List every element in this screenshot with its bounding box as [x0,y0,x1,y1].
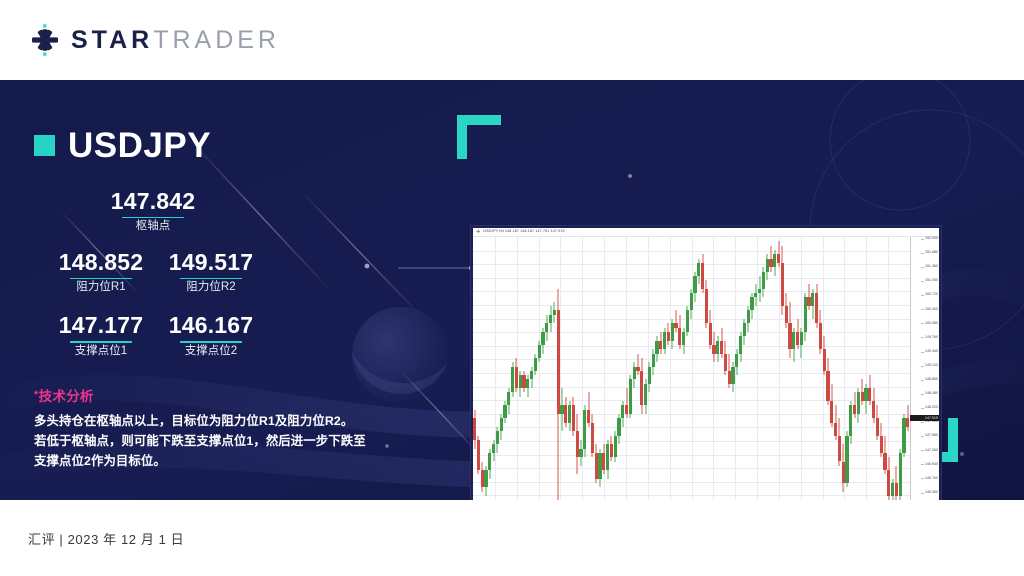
candlestick [762,237,765,500]
candlestick [678,237,681,500]
candlestick [560,237,563,500]
resistance-r1-label: 阻力位R1 [46,281,156,295]
brand-logo: STARTRADER [28,23,280,57]
support-s1-label: 支撑点位1 [46,345,156,359]
page-header: STARTRADER [0,0,1024,80]
candlestick [773,237,776,500]
price-axis-tick: 150.400 [925,308,938,311]
candlestick [648,237,651,500]
candlestick [750,237,753,500]
candlestick [583,237,586,500]
candlestick [712,237,715,500]
r1-underline [70,278,132,280]
price-axis-tick: 148.220 [925,406,938,409]
candlestick [800,237,803,500]
price-axis-tick: 150.720 [925,293,938,296]
candlestick [807,237,810,500]
candlestick [492,237,495,500]
candlestick [674,237,677,500]
price-axis-tick: 147.260 [925,449,938,452]
candlestick [735,237,738,500]
price-axis-tick: 149.120 [925,364,938,367]
candlestick [781,237,784,500]
candlestick [731,237,734,500]
resistance-r1-value: 148.852 [46,250,156,276]
candlestick [754,237,757,500]
candlestick [690,237,693,500]
candlestick [811,237,814,500]
analysis-heading: *技术分析 [34,388,414,406]
instrument-info-column: USDJPY 147.842 枢轴点 148.852 阻力位R1 149.517 [34,128,414,471]
candlestick [686,237,689,500]
candlestick [519,237,522,500]
candlestick [633,237,636,500]
price-axis-tick: 147.580 [925,434,938,437]
price-axis-tick: 148.480 [925,392,938,395]
analysis-body: 多头持仓在枢轴点以上，目标位为阻力位R1及阻力位R2。 若低于枢轴点，则可能下跌… [34,411,414,471]
main-dark-panel: USDJPY 147.842 枢轴点 148.852 阻力位R1 149.517 [0,80,1024,500]
candlestick [895,237,898,500]
candlestick [823,237,826,500]
price-axis-tick: 151.040 [925,279,938,282]
candlestick [891,237,894,500]
candlestick [693,237,696,500]
candlestick [861,237,864,500]
candlestick [503,237,506,500]
candlestick [845,237,848,500]
candlestick [496,237,499,500]
candlestick [549,237,552,500]
candlestick [652,237,655,500]
candlestick [617,237,620,500]
resistance-r2-value: 149.517 [156,250,266,276]
candlestick [899,237,902,500]
analysis-line-3: 支撑点位2作为目标位。 [34,451,414,471]
s2-underline [180,341,242,343]
candlestick [853,237,856,500]
candlestick [640,237,643,500]
candlestick [659,237,662,500]
candlestick [511,237,514,500]
technical-analysis-section: *技术分析 多头持仓在枢轴点以上，目标位为阻力位R1及阻力位R2。 若低于枢轴点… [34,388,414,471]
support-s2-label: 支撑点位2 [156,345,266,359]
candlestick [887,237,890,500]
candlestick [598,237,601,500]
candlestick [507,237,510,500]
candlestick [777,237,780,500]
candlestick [541,237,544,500]
candlestick [838,237,841,500]
candlestick [530,237,533,500]
candlestick [538,237,541,500]
candlestick [553,237,556,500]
candlestick [557,237,560,500]
candlestick [522,237,525,500]
analysis-line-2: 若低于枢轴点，则可能下跌至支撑点位1，然后进一步下跌至 [34,431,414,451]
candlestick [815,237,818,500]
presentation-slide: STARTRADER [0,0,1024,576]
current-price-badge: 147.919 [910,415,939,421]
chart-ohlc-title: USDJPY,H4 148.187 148.187 147.751 147.91… [483,230,564,234]
s1-underline [70,341,132,343]
candlestick [906,237,909,500]
star-asterisk-icon [28,23,62,57]
candlestick [830,237,833,500]
candlestick [500,237,503,500]
candlestick [701,237,704,500]
corner-bracket-top-left [457,115,501,159]
candlestick [716,237,719,500]
candlestick [864,237,867,500]
candlestick [564,237,567,500]
candlestick [545,237,548,500]
candlestick [883,237,886,500]
candlestick [724,237,727,500]
candlestick [477,237,480,500]
candlestick [826,237,829,500]
candlestick-series [473,237,910,500]
candlestick [902,237,905,500]
candlestick [663,237,666,500]
price-axis-tick: 149.440 [925,350,938,353]
chart-header-bar: ✛ USDJPY,H4 148.187 148.187 147.751 147.… [473,228,939,237]
price-axis-tick: 149.760 [925,336,938,339]
candlestick [728,237,731,500]
support-resistance-levels: 148.852 阻力位R1 149.517 阻力位R2 147.177 支撑点 [34,250,414,358]
candlestick [792,237,795,500]
analysis-heading-text: 技术分析 [39,389,94,404]
candlestick [534,237,537,500]
candlestick [576,237,579,500]
candlestick [758,237,761,500]
r2-underline [180,278,242,280]
teal-square-marker-icon [34,135,55,156]
pivot-label: 枢轴点 [46,220,260,234]
candlestick [625,237,628,500]
chart-plot-area[interactable] [473,237,910,500]
price-axis-tick: 152.000 [925,237,938,240]
price-axis-tick: 146.300 [925,491,938,494]
price-axis-tick: 146.760 [925,477,938,480]
candlestick [876,237,879,500]
support-s2-value: 146.167 [156,313,266,339]
candlestick [655,237,658,500]
resistance-row: 148.852 阻力位R1 149.517 阻力位R2 [46,250,414,295]
candlestick [682,237,685,500]
candlestick [868,237,871,500]
candlestick [587,237,590,500]
candlestick [671,237,674,500]
brand-wordmark: STARTRADER [71,28,280,53]
candlestick [697,237,700,500]
support-s1-value: 147.177 [46,313,156,339]
pivot-value: 147.842 [46,189,260,215]
page-title: USDJPY [68,128,211,163]
support-s1-cell: 147.177 支撑点位1 [46,313,156,358]
candlestick [880,237,883,500]
candlestick [743,237,746,500]
candlestick [849,237,852,500]
support-s2-cell: 146.167 支撑点位2 [156,313,266,358]
price-axis-tick: 147.900 [925,420,938,423]
brand-name-secondary: TRADER [153,28,280,53]
pivot-point-block: 147.842 枢轴点 [46,189,260,234]
candlestick [595,237,598,500]
resistance-r1-cell: 148.852 阻力位R1 [46,250,156,295]
candlestick [621,237,624,500]
candlestick [481,237,484,500]
candlestick [579,237,582,500]
price-axis-tick: 151.680 [925,251,938,254]
candlestick [572,237,575,500]
candlestick [602,237,605,500]
candlestick [484,237,487,500]
candlestick [644,237,647,500]
price-axis-tick: 151.360 [925,265,938,268]
candlestick [568,237,571,500]
candlestick [591,237,594,500]
candlestick [667,237,670,500]
candlestick [872,237,875,500]
candlestick [819,237,822,500]
candlestick [526,237,529,500]
candlestick [629,237,632,500]
analysis-line-1: 多头持仓在枢轴点以上，目标位为阻力位R1及阻力位R2。 [34,411,414,431]
candlestick [720,237,723,500]
candlestick [473,237,476,500]
candlestick [766,237,769,500]
chart-canvas[interactable]: ✛ USDJPY,H4 148.187 148.187 147.751 147.… [473,228,939,500]
brand-name-primary: STAR [71,28,153,53]
candlestick [804,237,807,500]
footer-date-text: 汇评 | 2023 年 12 月 1 日 [28,529,184,548]
candlestick [785,237,788,500]
candlestick [747,237,750,500]
price-axis-tick: 148.800 [925,378,938,381]
candlestick [788,237,791,500]
crosshair-icon: ✛ [476,230,480,235]
candlestick [842,237,845,500]
candlestick [610,237,613,500]
page-footer: 汇评 | 2023 年 12 月 1 日 [0,500,1024,576]
price-chart-window[interactable]: ✛ USDJPY,H4 148.187 148.187 147.751 147.… [471,226,941,500]
candlestick [636,237,639,500]
pivot-underline [122,217,184,219]
price-axis[interactable]: 152.000151.680151.360151.040150.720150.4… [910,237,939,500]
candlestick [769,237,772,500]
support-row: 147.177 支撑点位1 146.167 支撑点位2 [46,313,414,358]
candlestick [857,237,860,500]
candlestick [515,237,518,500]
resistance-r2-cell: 149.517 阻力位R2 [156,250,266,295]
candlestick [614,237,617,500]
candlestick [739,237,742,500]
price-axis-tick: 150.080 [925,322,938,325]
resistance-r2-label: 阻力位R2 [156,281,266,295]
candlestick [834,237,837,500]
candlestick [606,237,609,500]
candlestick [488,237,491,500]
candlestick [709,237,712,500]
candlestick [796,237,799,500]
candlestick [705,237,708,500]
price-axis-tick: 146.940 [925,463,938,466]
instrument-title-row: USDJPY [34,128,414,163]
